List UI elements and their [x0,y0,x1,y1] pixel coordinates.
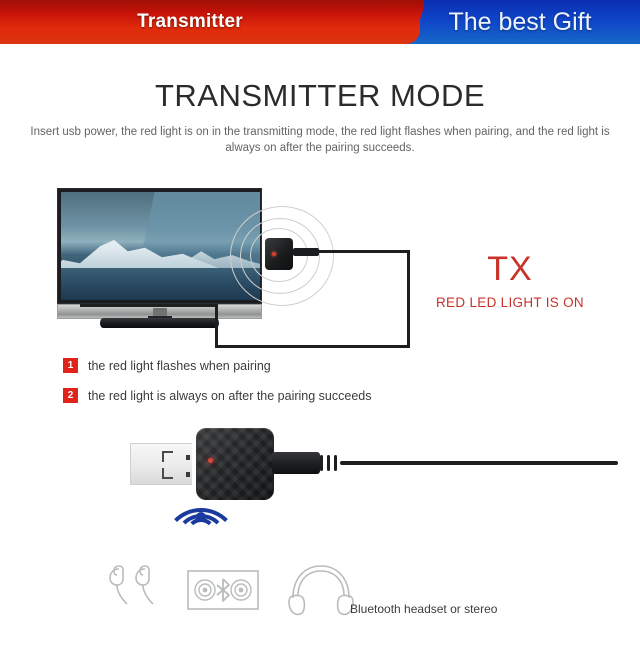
tv-stand-base [100,318,219,328]
step-item-1: 1 the red light flashes when pairing [63,358,271,373]
usb-contact-mark-bottom [162,468,173,479]
headphones-icon [285,560,357,618]
earbuds-icon [105,560,167,616]
tv-screen-water [61,268,260,300]
tv-dongle-plug [293,248,319,256]
dongle-cable-jack [272,452,320,474]
cable-strain-relief-2 [327,455,330,471]
cable-strain-relief-1 [320,455,323,471]
tx-mode-label: TX [420,250,600,289]
signal-source-dot [196,512,206,522]
cable-strain-relief-3 [334,455,337,471]
usb-connector [130,443,192,485]
step-number-badge: 2 [63,388,78,403]
banner-title-transmitter: Transmitter [0,0,380,44]
bluetooth-speaker-icon [187,570,259,610]
bluetooth-devices-caption: Bluetooth headset or stereo [350,602,550,616]
usb-contact-mark-top [162,451,173,462]
usb-pin-bottom [186,472,190,477]
signal-arc-inner [186,518,216,548]
bluetooth-signal-waves-icon [158,512,244,560]
banner-title-best-gift: The best Gift [400,0,640,44]
tv-connected-dongle [265,238,293,270]
compatible-devices-icons [95,558,355,620]
bluetooth-dongle-body [196,428,274,500]
tx-led-status-label: RED LED LIGHT IS ON [400,295,620,310]
cable-segment-mid-horizontal [80,304,218,307]
step-number-badge: 1 [63,358,78,373]
page-description: Insert usb power, the red light is on in… [20,124,620,156]
header-banner: Transmitter The best Gift [0,0,640,44]
step-text: the red light flashes when pairing [88,359,271,373]
cable-segment-mid-vertical [215,304,218,348]
page-title: TRANSMITTER MODE [0,78,640,114]
dongle-led-icon [208,458,213,463]
cable-segment-bottom [215,345,410,348]
step-text: the red light is always on after the pai… [88,389,372,403]
tv-brand-logo [153,308,167,316]
dongle-audio-cable [340,461,618,465]
step-item-2: 2 the red light is always on after the p… [63,388,372,403]
usb-pin-top [186,455,190,460]
tv-dongle-led-icon [272,252,276,256]
